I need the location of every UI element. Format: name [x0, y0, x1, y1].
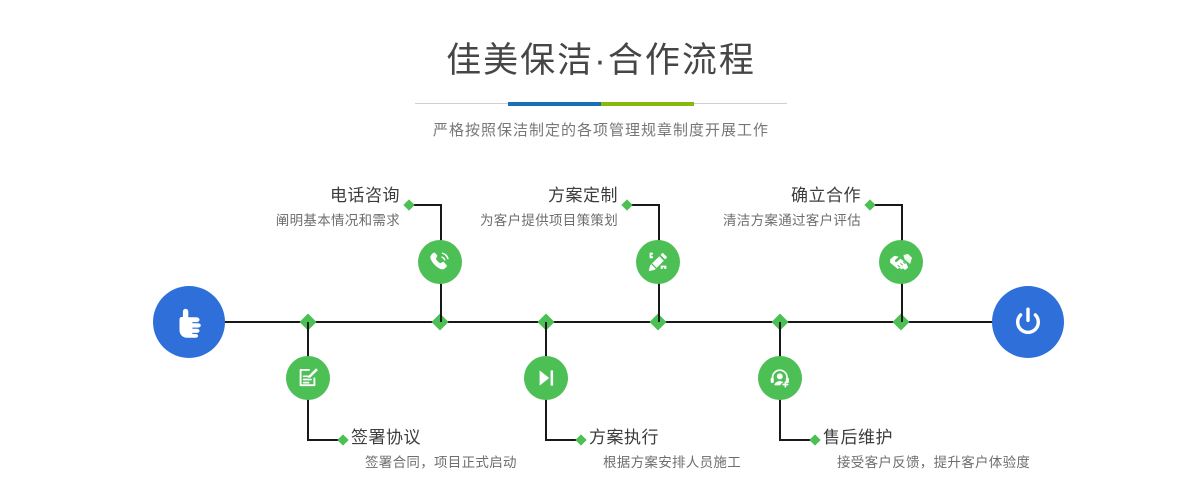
page-title: 佳美保洁·合作流程 — [0, 43, 1202, 78]
step-label: 售后维护 接受客户反馈，提升客户体验度 — [823, 428, 1193, 471]
step-description: 清洁方案通过客户评估 — [520, 213, 861, 229]
step-tip-diamond — [337, 434, 348, 445]
step-icon-bubble — [636, 240, 680, 284]
step-icon-bubble — [879, 240, 923, 284]
timeline-start-marker — [153, 286, 225, 358]
header: 佳美保洁·合作流程 严格按照保洁制定的各项管理规章制度开展工作 — [0, 0, 1202, 140]
step-description: 接受客户反馈，提升客户体验度 — [837, 455, 1193, 471]
process-flow-infographic: 佳美保洁·合作流程 严格按照保洁制定的各项管理规章制度开展工作 — [0, 0, 1202, 502]
step-icon-bubble — [524, 356, 568, 400]
page-subtitle: 严格按照保洁制定的各项管理规章制度开展工作 — [0, 119, 1202, 140]
step-icon-bubble — [758, 356, 802, 400]
step-tip-diamond — [864, 199, 875, 210]
step-label: 确立合作 清洁方案通过客户评估 — [520, 186, 861, 229]
divider-segment-blue — [508, 102, 601, 106]
step-icon-bubble — [418, 240, 462, 284]
step-icon-bubble — [286, 356, 330, 400]
title-divider — [415, 100, 787, 108]
timeline-end-marker — [992, 286, 1064, 358]
step-title: 确立合作 — [520, 186, 861, 206]
step-title: 售后维护 — [823, 428, 1193, 448]
step-connector-horizontal — [872, 204, 902, 206]
divider-segment-green — [601, 102, 694, 106]
